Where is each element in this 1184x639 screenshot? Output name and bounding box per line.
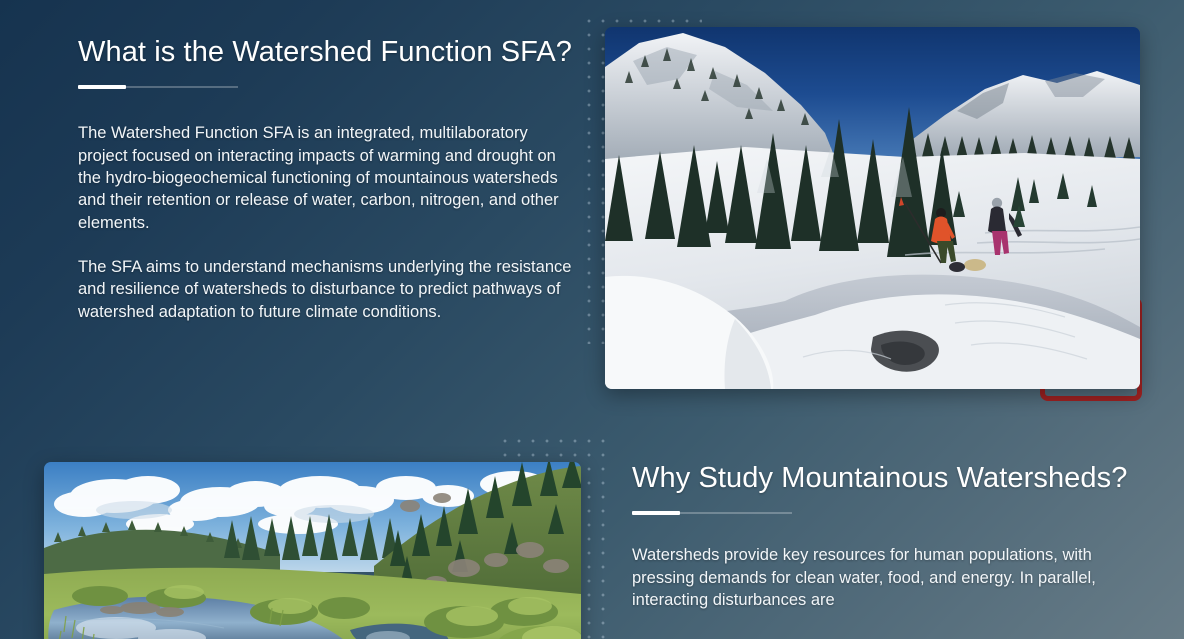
paragraph-sfa-aims: The SFA aims to understand mechanisms un…: [78, 256, 576, 323]
paragraph-watershed-resources: Watersheds provide key resources for hum…: [632, 544, 1144, 611]
winter-scene-illustration: [605, 27, 1140, 389]
paragraph-sfa-overview: The Watershed Function SFA is an integra…: [78, 122, 576, 233]
summer-meadow-illustration: [44, 462, 581, 639]
heading-accent-rule: [78, 84, 238, 90]
heading-what-is-the-watershed-function-sfa: What is the Watershed Function SFA?: [78, 36, 576, 68]
section-what-is-watershed-function-sfa: What is the Watershed Function SFA? The …: [78, 36, 576, 323]
heading-why-study-mountainous-watersheds: Why Study Mountainous Watersheds?: [632, 462, 1144, 494]
photo-summer-meadow-pond: [44, 462, 581, 639]
heading-accent-rule-2: [632, 510, 792, 516]
photo-winter-snow-research-site: [605, 27, 1140, 389]
section-why-study-mountainous-watersheds: Why Study Mountainous Watersheds? Waters…: [632, 462, 1144, 611]
